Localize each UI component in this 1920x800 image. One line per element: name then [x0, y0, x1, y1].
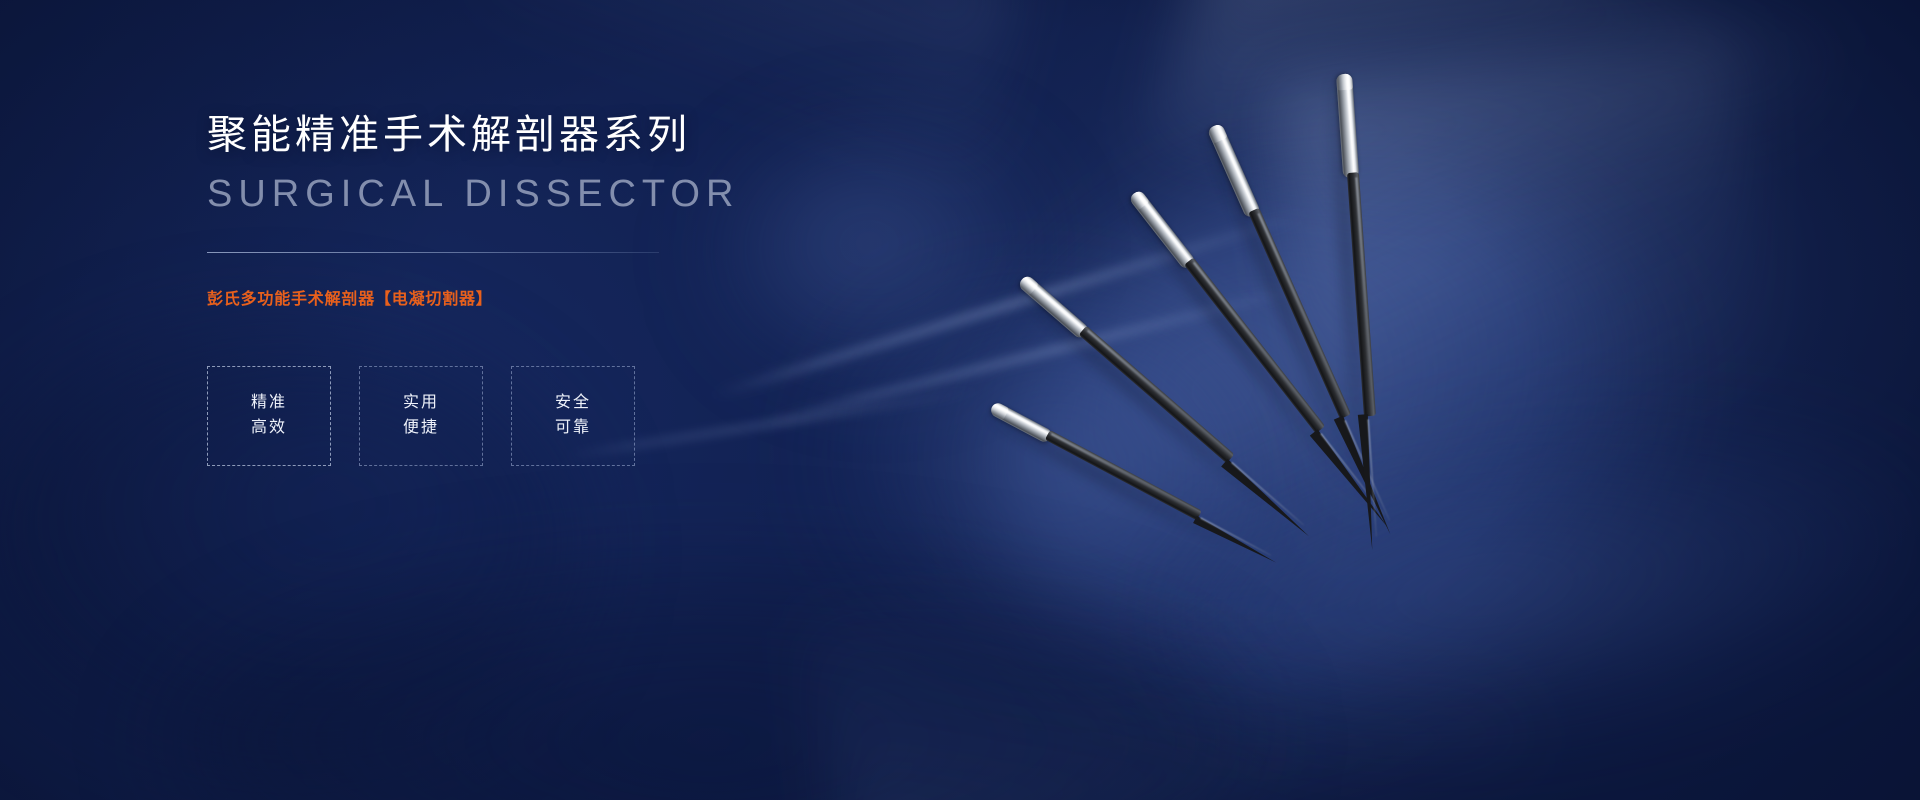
feature-3-line-1: 安全	[555, 395, 591, 411]
banner-title-chinese: 聚能精准手术解剖器系列	[207, 110, 847, 160]
title-divider	[207, 252, 659, 253]
feature-box-3[interactable]: 安全 可靠	[511, 366, 635, 466]
product-name-label: 彭氏多功能手术解剖器【电凝切割器】	[207, 285, 847, 309]
feature-box-2[interactable]: 实用 便捷	[359, 366, 483, 466]
feature-2-line-1: 实用	[403, 395, 439, 411]
feature-1-line-1: 精准	[251, 395, 287, 411]
banner-title-english: SURGICAL DISSECTOR	[207, 172, 847, 218]
feature-3-line-2: 可靠	[555, 420, 591, 436]
feature-1-line-2: 高效	[251, 420, 287, 436]
feature-box-1[interactable]: 精准 高效	[207, 366, 331, 466]
banner-content: 聚能精准手术解剖器系列 SURGICAL DISSECTOR 彭氏多功能手术解剖…	[207, 110, 847, 466]
product-hero-banner: 聚能精准手术解剖器系列 SURGICAL DISSECTOR 彭氏多功能手术解剖…	[0, 0, 1920, 800]
feature-2-line-2: 便捷	[403, 420, 439, 436]
feature-box-group: 精准 高效 实用 便捷 安全 可靠	[207, 366, 847, 466]
